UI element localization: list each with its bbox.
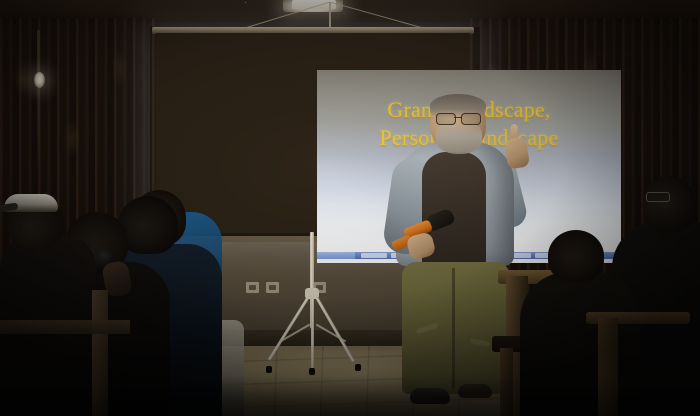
wall-sconce-light-icon xyxy=(34,72,45,88)
audience-glasses-icon xyxy=(646,192,670,202)
presenter-shoe-front xyxy=(410,388,450,404)
audience-head xyxy=(548,230,604,282)
wall-outlet xyxy=(246,282,259,293)
presenter-vest xyxy=(422,152,486,274)
presenter-beard xyxy=(436,124,482,154)
presentation-photo: Grand Landscape, Personal Landscape xyxy=(0,0,700,416)
chair-back-post xyxy=(598,318,618,416)
chair-leg xyxy=(500,348,513,416)
audience-member-dark-front xyxy=(520,272,640,416)
tripod-foot xyxy=(355,364,361,371)
audience-head xyxy=(644,176,696,232)
chair-back-post xyxy=(92,290,108,416)
chair-back-rail xyxy=(0,320,130,334)
presenter-raised-hand xyxy=(504,137,530,170)
tripod-leg xyxy=(311,292,314,370)
presenter-glasses-icon xyxy=(434,113,484,123)
tripod-hub xyxy=(305,288,319,299)
hanger-wires xyxy=(245,2,445,30)
taskbar-button xyxy=(361,253,387,258)
sconce-pole xyxy=(37,30,40,170)
tripod-foot xyxy=(309,368,315,375)
wall-outlet xyxy=(266,282,279,293)
presenter-shoe-back xyxy=(458,384,492,398)
presenter-pants-seam xyxy=(452,268,455,388)
tripod-foot xyxy=(266,366,272,373)
start-button xyxy=(317,252,355,259)
